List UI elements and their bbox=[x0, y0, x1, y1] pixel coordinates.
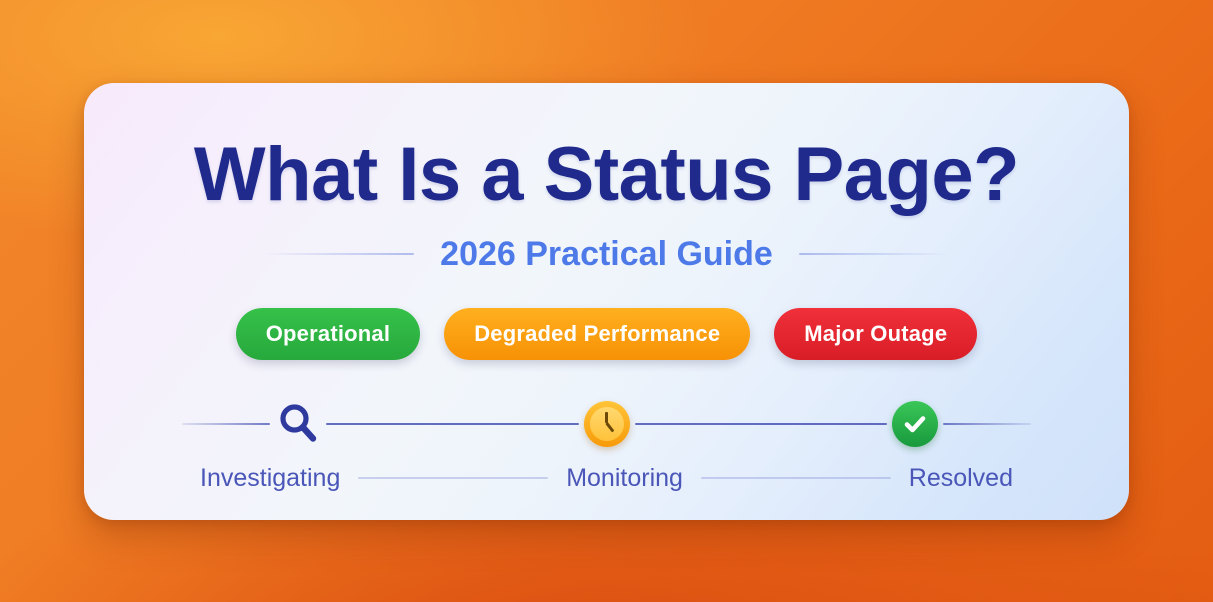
timeline-connector-2 bbox=[635, 423, 888, 425]
timeline-label-row: Investigating Monitoring Resolved bbox=[182, 464, 1031, 493]
subtitle-rule-left bbox=[262, 253, 414, 255]
magnifier-icon bbox=[270, 396, 326, 452]
timeline-label-rule-1 bbox=[358, 477, 548, 479]
status-badge-major-outage[interactable]: Major Outage bbox=[774, 308, 977, 360]
subtitle-rule-right bbox=[799, 253, 951, 255]
timeline-label-investigating: Investigating bbox=[200, 464, 340, 493]
page-subtitle: 2026 Practical Guide bbox=[440, 235, 773, 274]
status-page-card: What Is a Status Page? 2026 Practical Gu… bbox=[84, 83, 1129, 520]
subtitle-row: 2026 Practical Guide bbox=[84, 235, 1129, 274]
status-badge-row: Operational Degraded Performance Major O… bbox=[236, 308, 978, 360]
timeline-connector-start bbox=[182, 423, 270, 425]
timeline-label-resolved: Resolved bbox=[909, 464, 1013, 493]
timeline-connector-1 bbox=[326, 423, 579, 425]
check-circle-icon bbox=[887, 396, 943, 452]
status-badge-operational[interactable]: Operational bbox=[236, 308, 420, 360]
clock-icon bbox=[579, 396, 635, 452]
timeline-connector-end bbox=[943, 423, 1031, 425]
status-badge-degraded-performance[interactable]: Degraded Performance bbox=[444, 308, 750, 360]
timeline-icon-row bbox=[182, 396, 1031, 452]
timeline-label-rule-2 bbox=[701, 477, 891, 479]
timeline-label-monitoring: Monitoring bbox=[566, 464, 683, 493]
page-title: What Is a Status Page? bbox=[194, 137, 1019, 213]
incident-timeline: Investigating Monitoring Resolved bbox=[84, 396, 1129, 493]
